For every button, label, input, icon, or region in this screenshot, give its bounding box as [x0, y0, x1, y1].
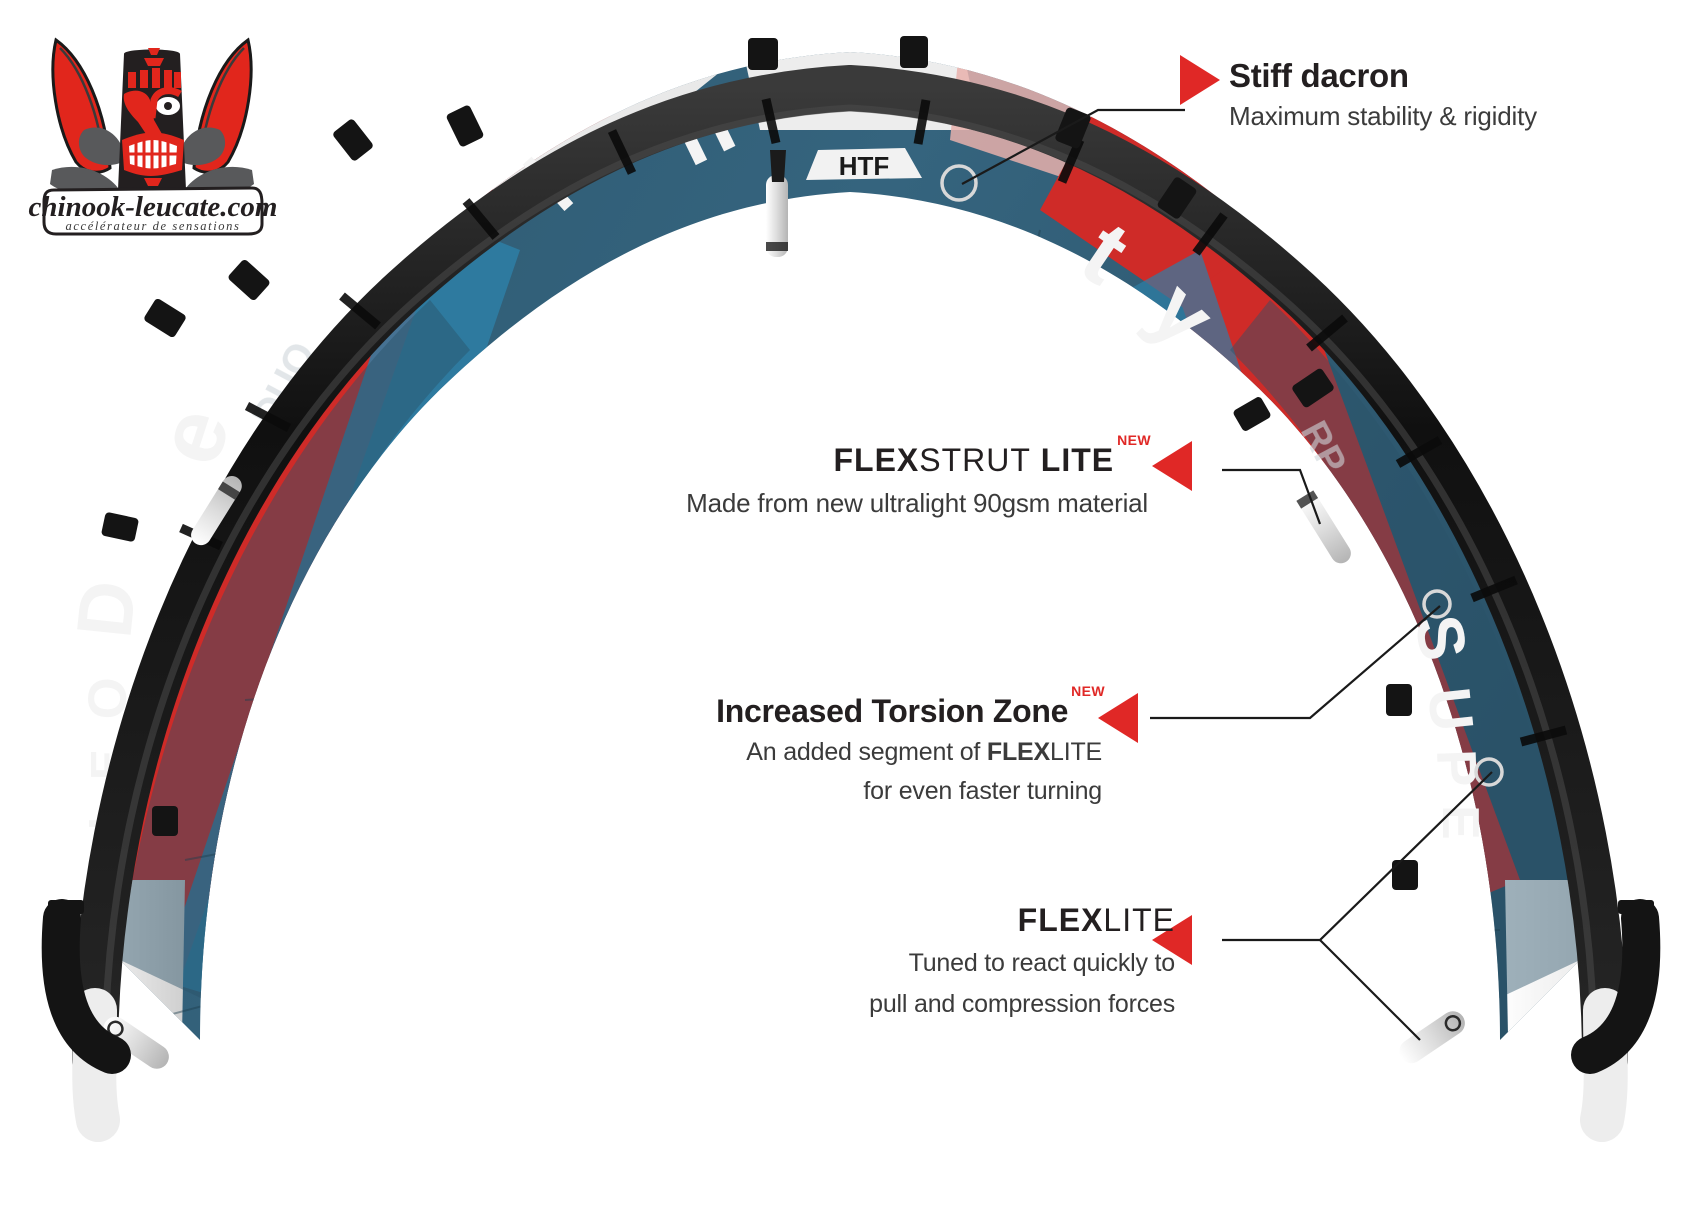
chinook-leucate-logo[interactable]: chinook-leucate.com accélérateur de sens… [26, 18, 278, 240]
callout-sub-flexstrut-lite: Made from new ultralight 90gsm material [686, 487, 1148, 520]
callout-title-flexlite: FLEXLITE [869, 903, 1175, 938]
callout-sub-increased-torsion-zone-line2: for even faster turning [716, 776, 1102, 808]
leading-edge-tube [94, 88, 1606, 1120]
svg-text:U: U [1415, 684, 1486, 734]
callout-sub-stiff-dacron: Maximum stability & rigidity [1229, 100, 1537, 133]
callout-sub-flexlite-line2: pull and compression forces [869, 989, 1175, 1021]
htf-patch: HTF [806, 148, 922, 181]
callout-increased-torsion-zone: Increased Torsion ZoneNEW An added segme… [716, 694, 1102, 808]
callout-sub-flexlite-line1: Tuned to react quickly to [869, 948, 1175, 980]
htf-label: HTF [839, 151, 890, 181]
callout-stiff-dacron: Stiff dacron Maximum stability & rigidit… [1229, 58, 1537, 132]
callout-flexlite: FLEXLITE Tuned to react quickly to pull … [869, 903, 1175, 1021]
new-badge-torsion: NEW [1071, 683, 1105, 699]
marker-triangle-increased-torsion-zone [1098, 693, 1138, 743]
torsion-sub-lite: LITE [1050, 738, 1102, 766]
torsion-sub-flex: FLEX [987, 738, 1050, 766]
logo-tagline-text: accélérateur de sensations [66, 219, 241, 233]
flexlite-part-flex: FLEX [1018, 902, 1104, 938]
callout-title-stiff-dacron: Stiff dacron [1229, 58, 1537, 94]
callout-title-flexstrut-lite: FLEXSTRUT LITENEW [686, 443, 1148, 478]
callout-flexstrut-lite: FLEXSTRUT LITENEW Made from new ultralig… [686, 443, 1148, 519]
logo-graphic: chinook-leucate.com accélérateur de sens… [26, 18, 278, 240]
torsion-sub-pre: An added segment of [746, 738, 987, 766]
marker-triangle-flexstrut-lite [1152, 441, 1192, 491]
flexlite-part-lite: LITE [1103, 902, 1175, 938]
tiki-mask-icon [118, 48, 186, 198]
svg-text:e: e [137, 396, 250, 476]
callout-title-increased-torsion-zone: Increased Torsion ZoneNEW [716, 694, 1102, 729]
flexstrut-part-flex: FLEX [833, 442, 919, 478]
flexstrut-part-lite: LITE [1041, 442, 1114, 478]
diagram-canvas: i n t y e D O E L S U P E DUO RP [0, 0, 1700, 1216]
torsion-title-text: Increased Torsion Zone [716, 693, 1068, 729]
marker-triangle-stiff-dacron [1180, 55, 1220, 105]
logo-banner: chinook-leucate.com accélérateur de sens… [29, 188, 278, 234]
new-badge-flexstrut: NEW [1117, 432, 1151, 448]
callout-sub-increased-torsion-zone-line1: An added segment of FLEXLITE [716, 737, 1102, 769]
flexstrut-part-strut: STRUT [919, 442, 1031, 478]
svg-text:D: D [59, 577, 152, 642]
